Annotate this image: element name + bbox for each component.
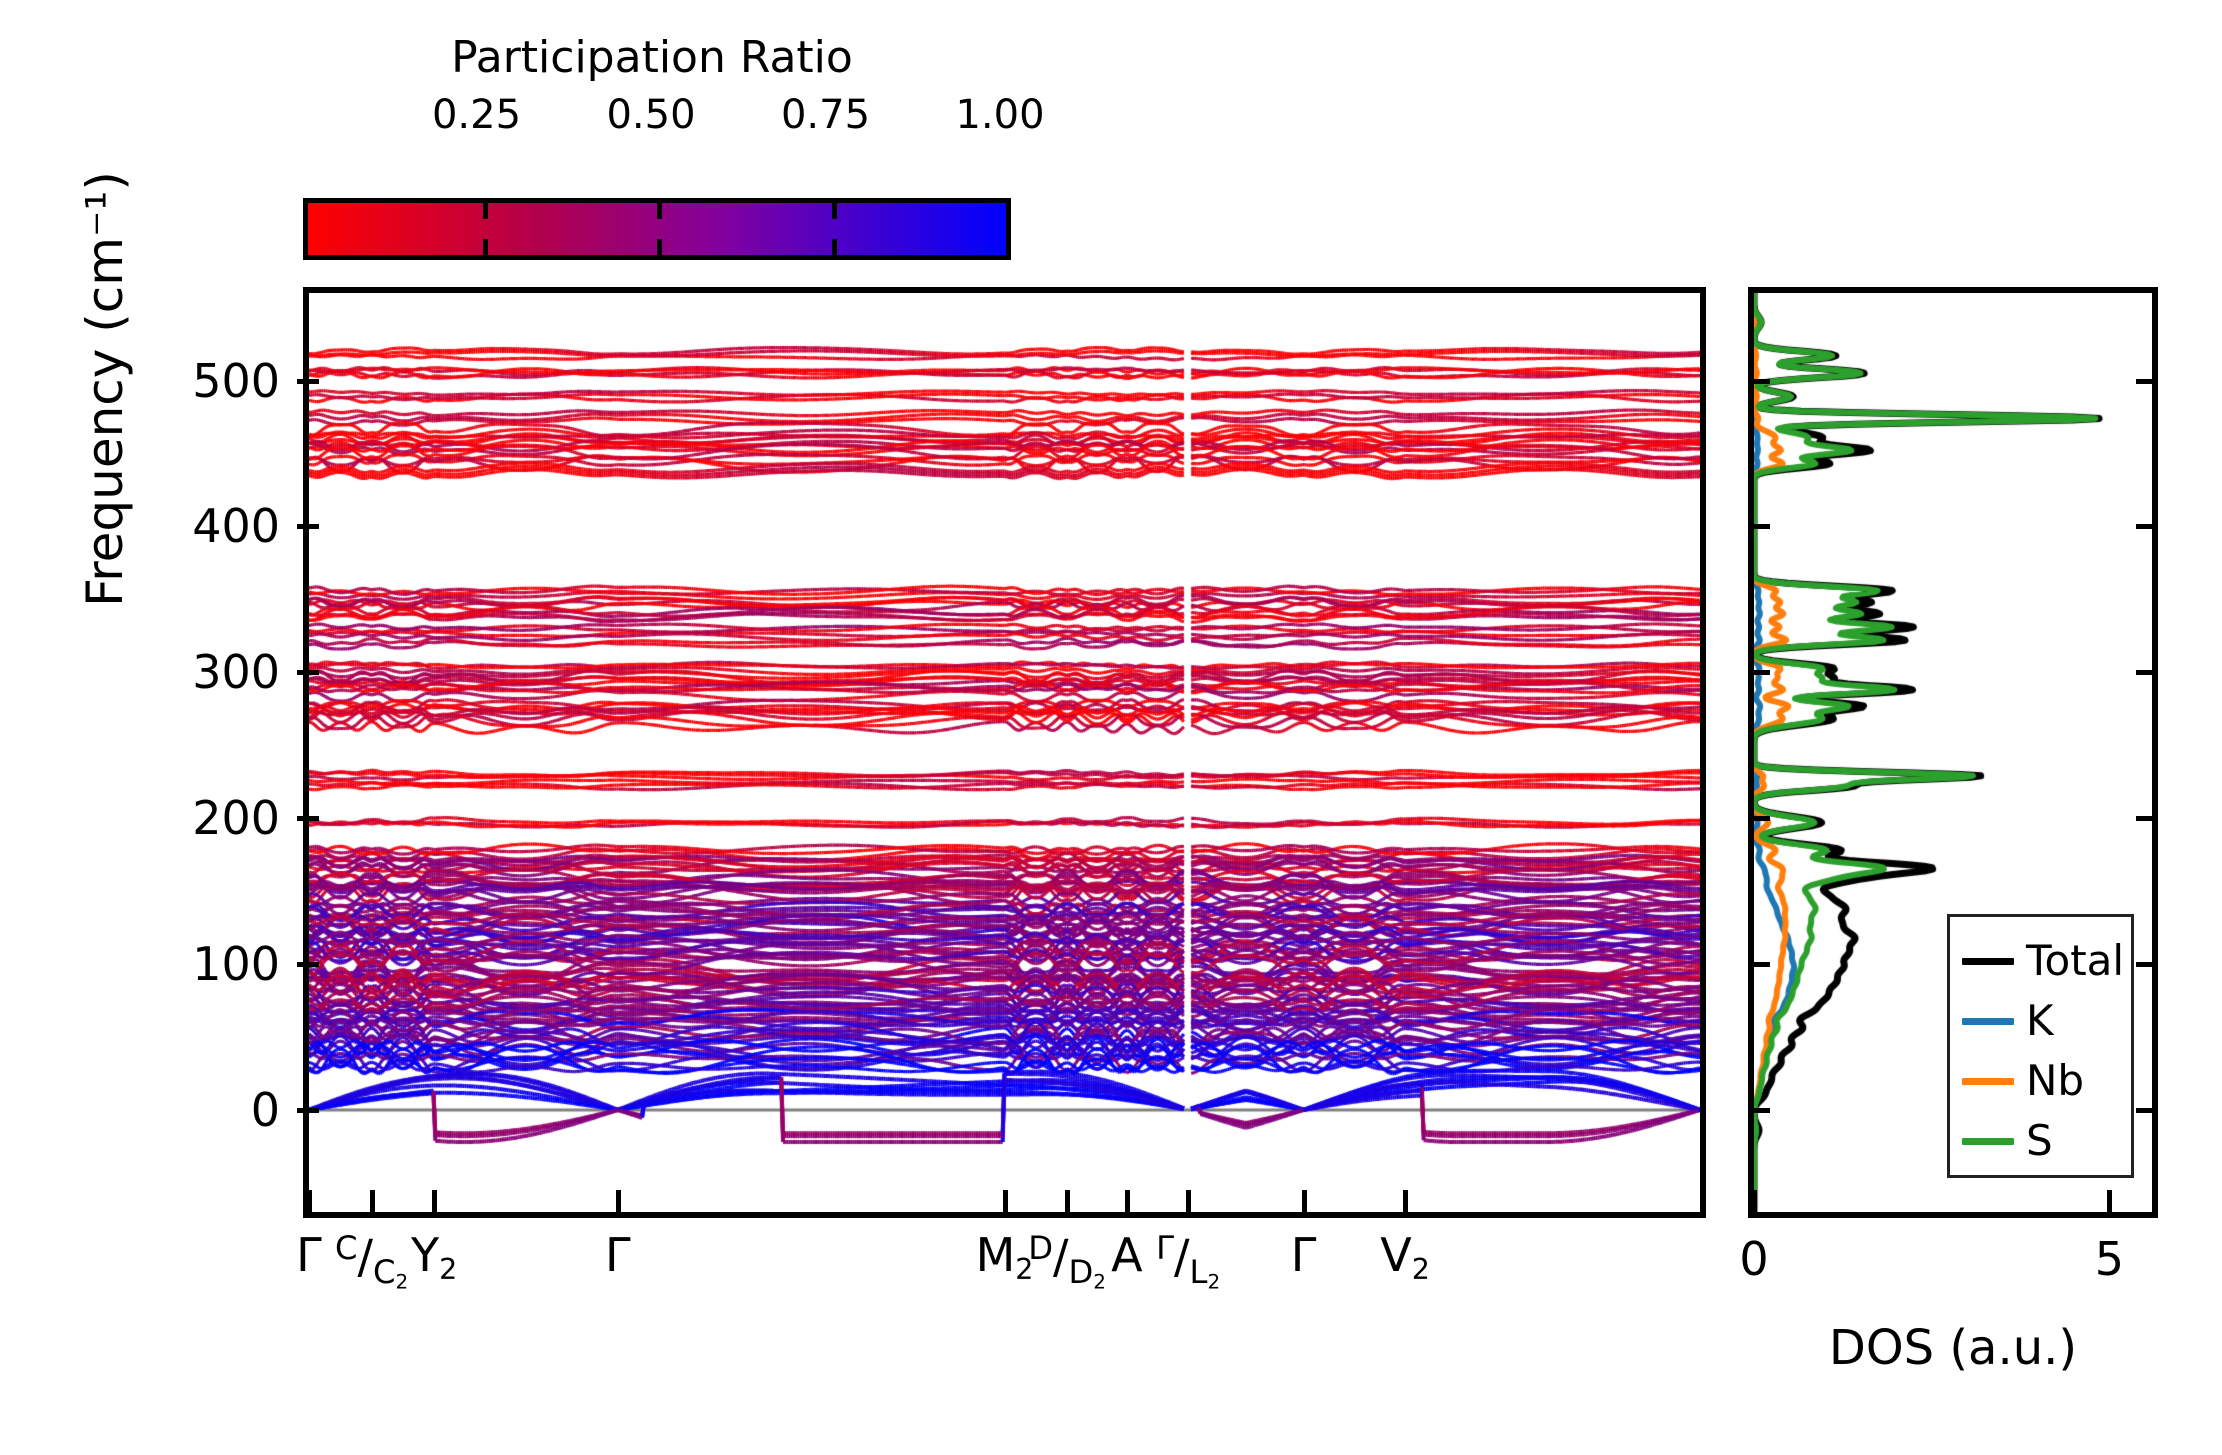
legend-entry: Nb: [1962, 1051, 2121, 1111]
colorbar-tick-label: 0.25: [432, 92, 521, 138]
x-axis-tick: [1125, 1190, 1130, 1218]
legend-swatch: [1962, 1138, 2014, 1145]
dos-y-axis-tick: [2136, 816, 2156, 821]
legend-swatch: [1962, 1018, 2014, 1025]
legend-label: S: [2026, 1120, 2053, 1162]
dos-y-axis-tick: [2136, 670, 2156, 675]
y-axis-tick: [297, 524, 319, 529]
dos-y-axis-tick: [2136, 379, 2156, 384]
colorbar-tick: [483, 203, 488, 219]
colorbar-tick-label: 0.75: [781, 92, 870, 138]
dos-y-axis-tick: [1750, 670, 1770, 675]
x-axis-tick: [307, 1190, 312, 1218]
legend-entry: K: [1962, 991, 2121, 1051]
colorbar: [303, 198, 1011, 260]
x-axis-tick-label: Γ: [1291, 1232, 1317, 1278]
x-axis-tick: [432, 1190, 437, 1218]
dos-y-axis-tick: [2136, 962, 2156, 967]
y-axis-tick-label: 100: [110, 937, 280, 991]
colorbar-tick: [657, 239, 662, 255]
colorbar-tick-labels: 0.250.500.751.00: [302, 92, 1002, 142]
figure-canvas: Participation Ratio 0.250.500.751.00 Fre…: [0, 0, 2222, 1455]
x-axis-tick: [1403, 1190, 1408, 1218]
colorbar-tick: [832, 239, 837, 255]
x-axis-tick-label: A: [1111, 1232, 1142, 1278]
legend-swatch: [1962, 1078, 2014, 1085]
dos-x-axis-tick: [1752, 1190, 1757, 1218]
colorbar-tick: [832, 203, 837, 219]
dos-y-axis-tick: [1750, 1108, 1770, 1113]
legend-label: Total: [2026, 940, 2124, 982]
colorbar-title: Participation Ratio: [302, 32, 1002, 83]
band-plot-canvas: [309, 293, 1700, 1212]
x-axis-tick: [1065, 1190, 1070, 1218]
dos-x-axis-label: DOS (a.u.): [1748, 1320, 2158, 1376]
y-axis-tick-label: 0: [110, 1083, 280, 1137]
x-axis-tick-label: C/C2: [335, 1232, 408, 1292]
y-axis-tick-label: 400: [110, 499, 280, 553]
x-axis-tick-label: D/D2: [1028, 1232, 1106, 1292]
dos-x-axis-tick-label: 0: [1739, 1232, 1768, 1286]
legend-entry: Total: [1962, 931, 2121, 991]
legend-label: K: [2026, 1000, 2054, 1042]
dos-x-axis-tick: [2107, 1190, 2112, 1218]
legend-label: Nb: [2026, 1060, 2084, 1102]
x-axis-tick-label: V2: [1380, 1232, 1430, 1285]
dos-y-axis-tick: [1750, 962, 1770, 967]
x-axis-tick-label: Γ: [296, 1232, 322, 1278]
dos-y-axis-tick: [1750, 524, 1770, 529]
x-axis-tick: [1302, 1190, 1307, 1218]
phonon-band-structure-panel: [303, 287, 1706, 1218]
colorbar-tick: [657, 203, 662, 219]
dos-y-axis-tick: [2136, 524, 2156, 529]
y-axis-tick: [297, 962, 319, 967]
y-axis-tick: [297, 670, 319, 675]
x-axis-tick: [1003, 1190, 1008, 1218]
x-axis-tick: [616, 1190, 621, 1218]
dos-x-axis-tick-label: 5: [2095, 1232, 2124, 1286]
dos-y-axis-tick: [1750, 379, 1770, 384]
x-axis-tick-label: Γ: [605, 1232, 631, 1278]
x-axis-tick: [370, 1190, 375, 1218]
colorbar-tick-label: 1.00: [955, 92, 1044, 138]
dos-legend: TotalKNbS: [1947, 914, 2134, 1178]
y-axis-tick: [297, 816, 319, 821]
colorbar-tick-label: 0.50: [606, 92, 695, 138]
y-axis-tick-label: 500: [110, 354, 280, 408]
y-axis-tick: [297, 1108, 319, 1113]
x-axis-tick-label: M2: [976, 1232, 1034, 1285]
x-axis-tick-label: Γ/L2: [1156, 1232, 1220, 1292]
y-axis-tick-label: 200: [110, 791, 280, 845]
dos-y-axis-tick: [1750, 816, 1770, 821]
x-axis-tick-label: Y2: [411, 1232, 457, 1285]
colorbar-tick: [483, 239, 488, 255]
x-axis-tick: [1186, 1190, 1191, 1218]
dos-y-axis-tick: [2136, 1108, 2156, 1113]
legend-entry: S: [1962, 1111, 2121, 1171]
legend-swatch: [1962, 958, 2014, 965]
y-axis-tick: [297, 379, 319, 384]
y-axis-tick-label: 300: [110, 645, 280, 699]
